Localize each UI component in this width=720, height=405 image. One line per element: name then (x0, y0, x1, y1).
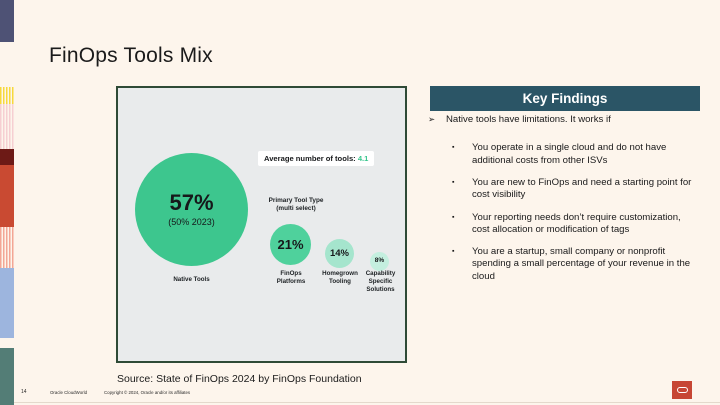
key-findings-title: Key Findings (523, 91, 608, 106)
footer-page-number: 14 (21, 389, 27, 395)
bubble-label-native-tools: Native Tools (135, 276, 248, 284)
strip-segment-salmon-stripes (0, 227, 14, 268)
square-bullet-icon: ▪ (452, 246, 472, 257)
key-finding-item-text: You operate in a single cloud and do not… (472, 142, 700, 167)
bubble-label-finops-platforms: FinOpsPlatforms (266, 270, 316, 286)
average-tools-value: 4.1 (358, 154, 369, 163)
key-finding-item-text: You are a startup, small company or nonp… (472, 246, 700, 283)
oracle-logo-icon (672, 381, 692, 399)
left-decorative-strip (0, 0, 14, 405)
key-findings-list: ▪You operate in a single cloud and do no… (428, 142, 700, 282)
key-findings-lead-text: Native tools have limitations. It works … (446, 114, 611, 126)
footer-brand: Oracle CloudWorld (50, 390, 87, 395)
bubble-value-finops-platforms: 21% (277, 238, 303, 251)
key-findings-lead: ➢ Native tools have limitations. It work… (428, 114, 700, 126)
bubble-finops-platforms: 21% (270, 224, 311, 265)
strip-segment-cream-gap-2 (0, 338, 14, 348)
strip-segment-cream-gap (0, 42, 14, 87)
square-bullet-icon: ▪ (452, 212, 472, 223)
bubble-native-tools: 57%(50% 2023) (135, 153, 248, 266)
square-bullet-icon: ▪ (452, 177, 472, 188)
key-finding-item: ▪You operate in a single cloud and do no… (428, 142, 700, 167)
strip-segment-blue-block (0, 268, 14, 338)
key-finding-item: ▪Your reporting needs don’t require cust… (428, 212, 700, 237)
key-finding-item-text: You are new to FinOps and need a startin… (472, 177, 700, 202)
bubble-homegrown-tooling: 14% (325, 239, 354, 268)
strip-segment-pink-stripes (0, 104, 14, 149)
bubble-value-homegrown-tooling: 14% (330, 249, 349, 259)
source-note: Source: State of FinOps 2024 by FinOps F… (117, 373, 362, 385)
average-tools-callout: Average number of tools: 4.1 (258, 151, 374, 166)
average-tools-label: Average number of tools: (264, 154, 356, 163)
key-finding-item: ▪You are new to FinOps and need a starti… (428, 177, 700, 202)
arrow-bullet-icon: ➢ (428, 114, 446, 125)
page-title: FinOps Tools Mix (49, 44, 213, 68)
key-finding-item: ▪You are a startup, small company or non… (428, 246, 700, 283)
key-findings-body: ➢ Native tools have limitations. It work… (428, 114, 700, 293)
strip-segment-navy-block (0, 0, 14, 42)
key-finding-item-text: Your reporting needs don’t require custo… (472, 212, 700, 237)
strip-segment-yellow-stripes (0, 87, 14, 104)
oracle-ring-glyph (677, 387, 688, 393)
footer-divider (14, 402, 720, 403)
strip-segment-teal-block (0, 348, 14, 405)
square-bullet-icon: ▪ (452, 142, 472, 153)
bubble-label-capability-specific-solutions: CapabilitySpecificSolutions (359, 270, 402, 293)
key-findings-header: Key Findings (430, 86, 700, 111)
strip-segment-red-block (0, 165, 14, 227)
bubble-value-capability-specific-solutions: 8% (375, 258, 384, 265)
bubble-capability-specific-solutions: 8% (370, 252, 389, 271)
slide-canvas: FinOps Tools Mix 57%(50% 2023)Native Too… (0, 0, 720, 405)
bubble-value-native-tools: 57% (169, 192, 213, 214)
footer-copyright: Copyright © 2024, Oracle and/or its affi… (104, 390, 190, 395)
bubble-subvalue-native-tools: (50% 2023) (168, 218, 215, 227)
primary-tool-type-caption: Primary Tool Type(multi select) (256, 197, 336, 214)
finops-tools-mix-chart: 57%(50% 2023)Native Tools21%FinOpsPlatfo… (116, 86, 407, 363)
strip-segment-dark-red-block (0, 149, 14, 165)
